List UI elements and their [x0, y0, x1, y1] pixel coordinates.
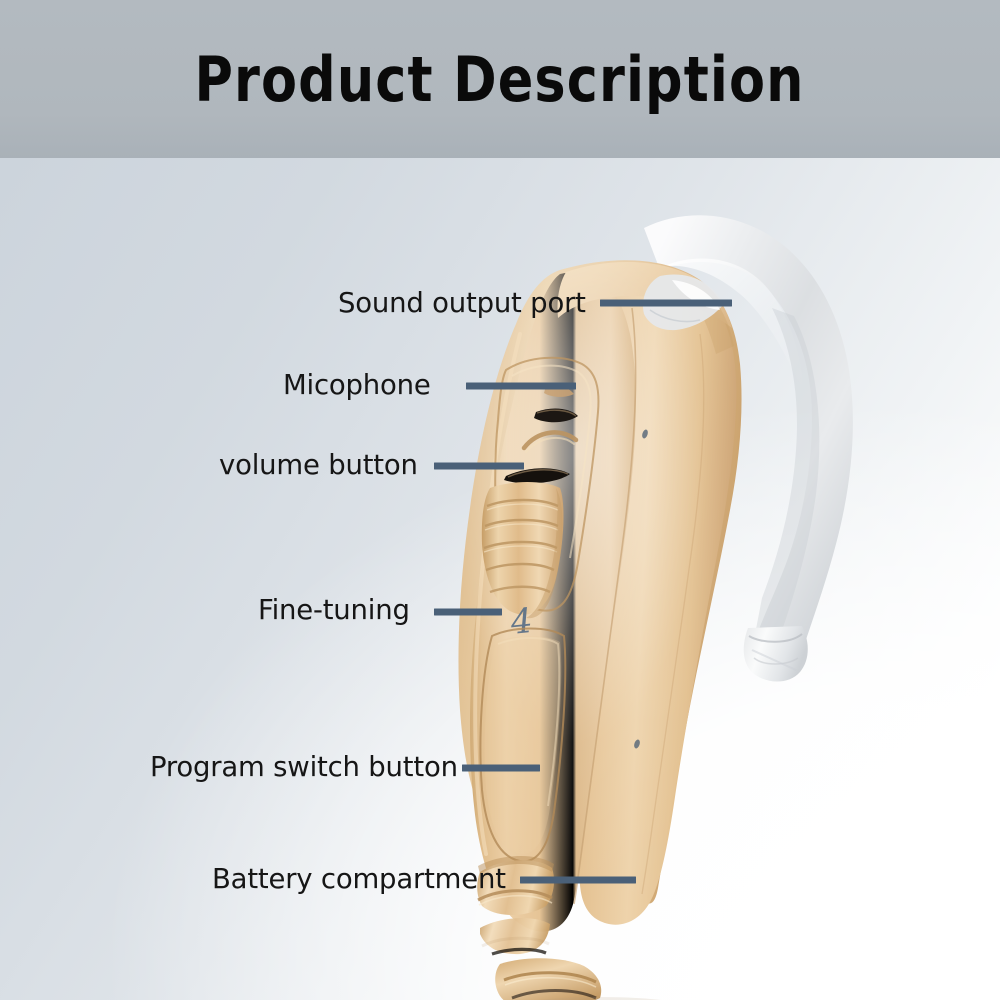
ear-hook-tip	[744, 626, 808, 682]
product-description-infographic: Product Description	[0, 0, 1000, 1000]
callout-leader-sound-output-port	[600, 300, 732, 307]
callout-leader-fine-tuning	[434, 609, 502, 616]
callout-label-micophone: Micophone	[283, 369, 431, 401]
callout-label-volume-button: volume button	[219, 449, 418, 481]
battery-compartment	[495, 958, 601, 1000]
callout-leader-volume-button	[434, 463, 524, 470]
callout-label-program-switch-button: Program switch button	[150, 751, 458, 783]
callout-leader-micophone	[466, 383, 576, 390]
callout-leader-battery-compartment	[520, 877, 636, 884]
illustration-stage: 4	[0, 158, 1000, 1000]
header-band: Product Description	[0, 0, 1000, 158]
callout-label-sound-output-port: Sound output port	[338, 287, 586, 319]
callout-label-battery-compartment: Battery compartment	[212, 863, 506, 895]
callout-leader-program-switch-button	[462, 765, 540, 772]
callout-label-fine-tuning: Fine-tuning	[258, 594, 410, 626]
page-title: Product Description	[195, 43, 805, 116]
